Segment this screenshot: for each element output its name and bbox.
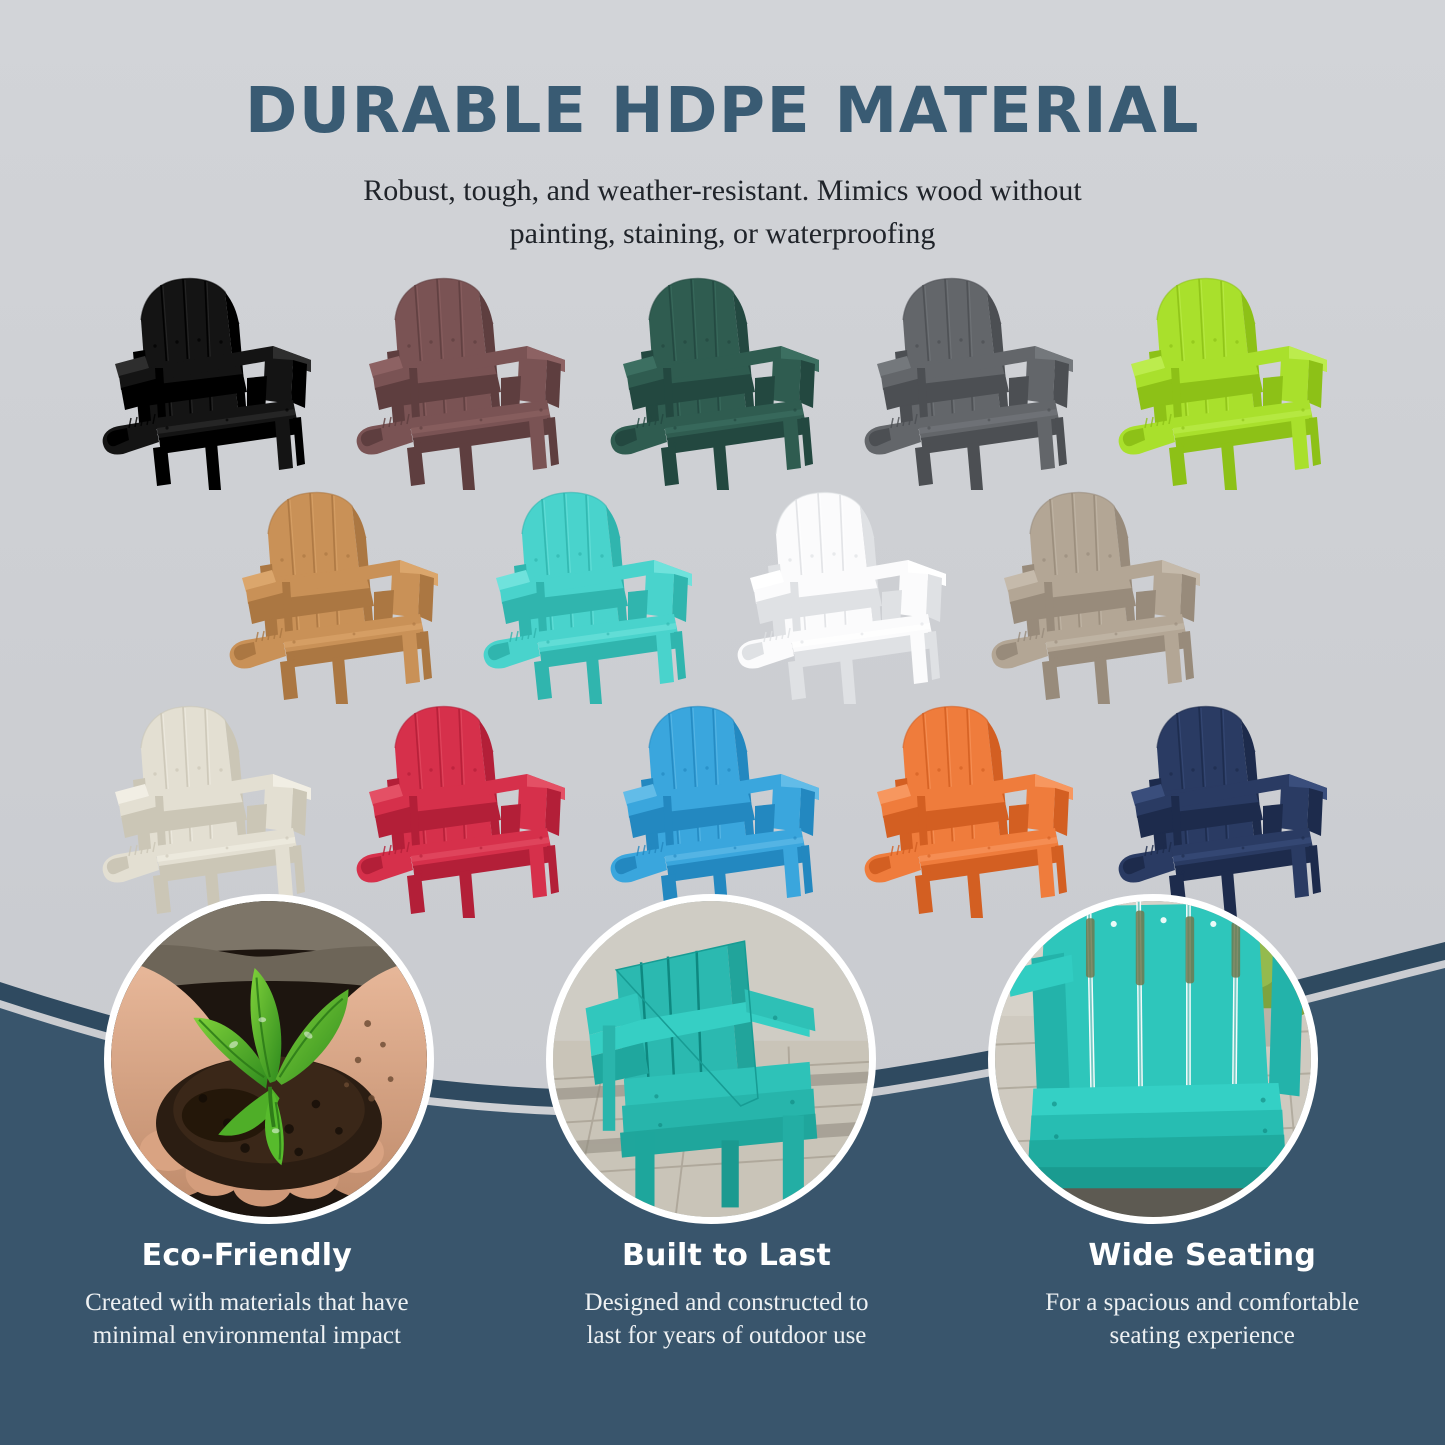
- feature-desc-line-2: minimal environmental impact: [34, 1320, 460, 1353]
- page-title: DURABLE HDPE MATERIAL: [0, 78, 1445, 144]
- feature-desc-line-2: seating experience: [989, 1320, 1415, 1353]
- page-subtitle: Robust, tough, and weather-resistant. Mi…: [0, 170, 1445, 255]
- subtitle-line-2: painting, staining, or waterproofing: [0, 213, 1445, 256]
- feature-desc-line-2: last for years of outdoor use: [514, 1320, 940, 1353]
- circle-wide-seat-closeup-photo: [988, 894, 1318, 1224]
- subtitle-line-1: Robust, tough, and weather-resistant. Mi…: [0, 170, 1445, 213]
- chair-swatch-weathered-wood-taupe[interactable]: [986, 482, 1222, 704]
- feature-built-to-last: Built to Last Designed and constructed t…: [494, 1238, 960, 1352]
- chair-row-1: [0, 268, 1445, 490]
- feature-description: Designed and constructed to last for yea…: [514, 1287, 940, 1352]
- circle-eco-hands-seedling-photo: [104, 894, 434, 1224]
- chair-color-grid: [0, 268, 1445, 918]
- chair-swatch-ivory-beige[interactable]: [97, 696, 333, 918]
- feature-list: Eco-Friendly Created with materials that…: [0, 1238, 1445, 1352]
- chair-swatch-dark-green[interactable]: [605, 268, 841, 490]
- chair-swatch-wine-red-brown[interactable]: [351, 268, 587, 490]
- chair-row-2: [0, 482, 1445, 704]
- feature-eco-friendly: Eco-Friendly Created with materials that…: [0, 1238, 494, 1352]
- feature-title: Eco-Friendly: [34, 1238, 460, 1273]
- chair-swatch-turquoise[interactable]: [478, 482, 714, 704]
- chair-swatch-black[interactable]: [97, 268, 333, 490]
- circle-turquoise-chair-patio-photo: [546, 894, 876, 1224]
- feature-title: Built to Last: [514, 1238, 940, 1273]
- chair-swatch-orange[interactable]: [859, 696, 1095, 918]
- feature-photo-circles: [0, 894, 1445, 1234]
- feature-desc-line-1: For a spacious and comfortable: [989, 1287, 1415, 1320]
- feature-wide-seating: Wide Seating For a spacious and comforta…: [959, 1238, 1445, 1352]
- feature-desc-line-1: Designed and constructed to: [514, 1287, 940, 1320]
- infographic-canvas: DURABLE HDPE MATERIAL Robust, tough, and…: [0, 0, 1445, 1445]
- chair-swatch-teak-camel[interactable]: [224, 482, 460, 704]
- chair-swatch-sky-blue[interactable]: [605, 696, 841, 918]
- feature-desc-line-1: Created with materials that have: [34, 1287, 460, 1320]
- chair-swatch-navy-blue[interactable]: [1113, 696, 1349, 918]
- header: DURABLE HDPE MATERIAL Robust, tough, and…: [0, 0, 1445, 255]
- feature-description: Created with materials that have minimal…: [34, 1287, 460, 1352]
- chair-swatch-lime-green[interactable]: [1113, 268, 1349, 490]
- feature-title: Wide Seating: [989, 1238, 1415, 1273]
- chair-swatch-gray[interactable]: [859, 268, 1095, 490]
- chair-swatch-white[interactable]: [732, 482, 968, 704]
- chair-row-3: [0, 696, 1445, 918]
- feature-description: For a spacious and comfortable seating e…: [989, 1287, 1415, 1352]
- chair-swatch-crimson-red[interactable]: [351, 696, 587, 918]
